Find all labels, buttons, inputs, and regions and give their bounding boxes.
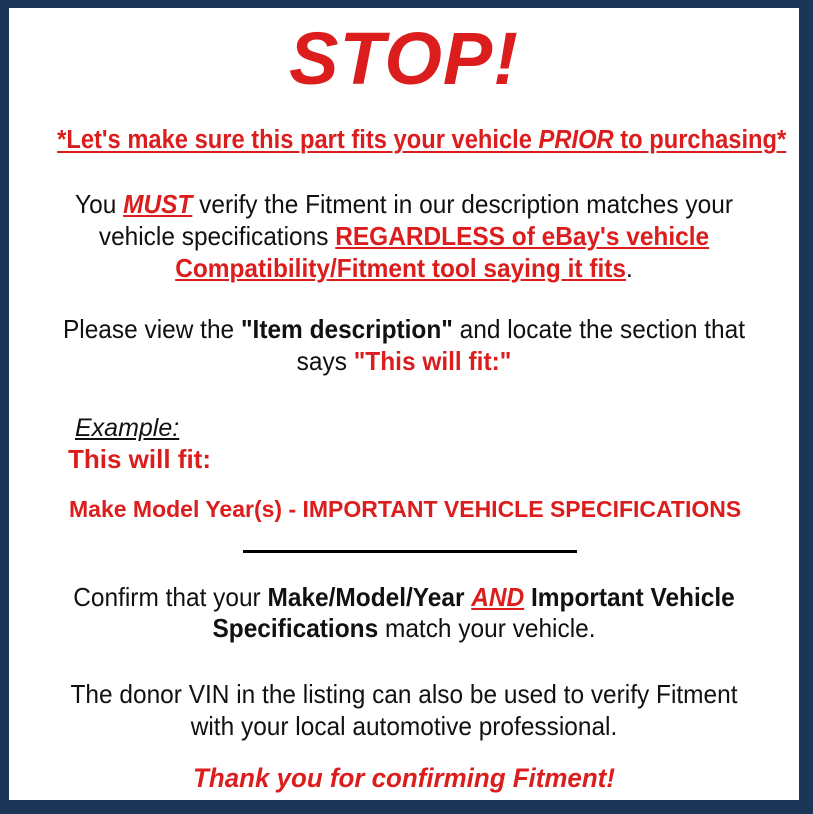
example-block: Example: This will fit: Make Model Year(… [31, 415, 777, 523]
fitment-notice-card: STOP! *Let's make sure this part fits yo… [0, 0, 813, 814]
emphasis-item-description: "Item description" [241, 314, 453, 344]
must-part-1: You [75, 189, 123, 219]
paragraph-confirm: Confirm that your Make/Model/Year AND Im… [53, 582, 754, 645]
spacer-before-thanks [31, 742, 777, 763]
emphasis-make-model-year: Make/Model/Year [267, 582, 471, 612]
subtitle-suffix: to purchasing* [614, 126, 787, 154]
must-part-3: . [626, 253, 633, 283]
example-label: Example: [75, 415, 179, 443]
subtitle-banner: *Let's make sure this part fits your veh… [57, 126, 751, 155]
horizontal-rule-divider [243, 550, 577, 553]
confirm-part-2: match your vehicle. [378, 613, 595, 643]
paragraph-donor-vin: The donor VIN in the listing can also be… [53, 679, 754, 742]
subtitle-prefix: *Let's make sure this part fits your veh… [57, 126, 538, 154]
emphasis-this-will-fit: "This will fit:" [354, 346, 512, 376]
example-spec-line: Make Model Year(s) - IMPORTANT VEHICLE S… [69, 497, 777, 522]
paragraph-must-verify: You MUST verify the Fitment in our descr… [53, 189, 754, 284]
example-label-row: Example: [55, 415, 777, 443]
confirm-part-1: Confirm that your [73, 582, 267, 612]
subtitle-emphasis-prior: PRIOR [539, 126, 614, 154]
thank-you-message: Thank you for confirming Fitment! [46, 763, 762, 794]
paragraph-item-description: Please view the "Item description" and l… [53, 314, 754, 377]
emphasis-and: AND [471, 582, 524, 612]
description-part-1: Please view the [63, 314, 241, 344]
spacer-before-confirm [31, 553, 777, 582]
spacer-before-vin [31, 645, 777, 679]
emphasis-must: MUST [123, 189, 192, 219]
example-fit-heading: This will fit: [68, 445, 777, 475]
notice-content: STOP! *Let's make sure this part fits yo… [9, 22, 799, 814]
stop-title: STOP! [31, 22, 777, 96]
